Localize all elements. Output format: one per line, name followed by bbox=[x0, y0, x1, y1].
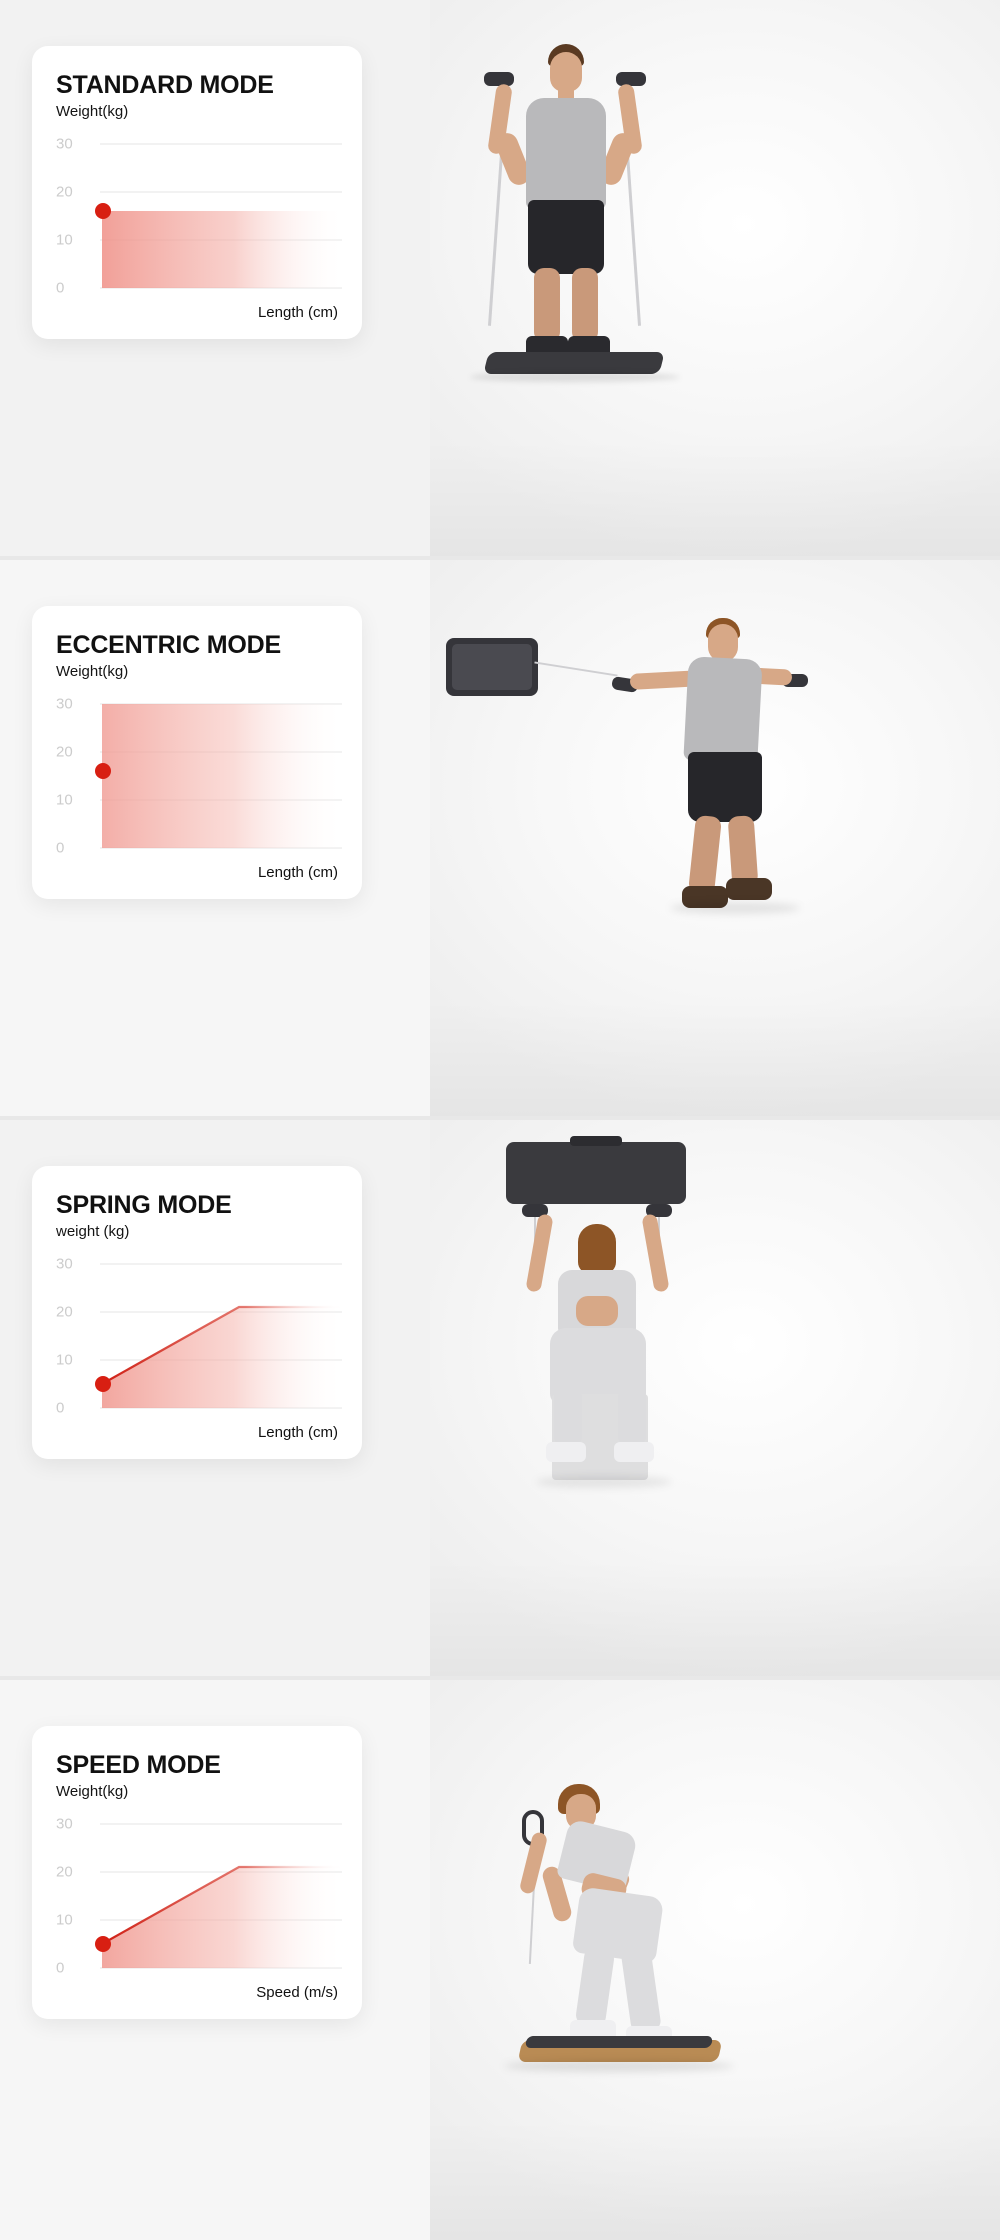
arm-left bbox=[525, 1213, 553, 1292]
section-spring-mode: SPRING MODE weight (kg) bbox=[0, 1120, 1000, 1680]
ytick-30: 30 bbox=[56, 696, 82, 713]
ytick-0: 0 bbox=[56, 1400, 82, 1417]
cable-left bbox=[534, 661, 617, 676]
start-marker bbox=[95, 763, 111, 779]
leg-right bbox=[618, 1388, 646, 1446]
chart-speed-mode: 30 20 10 0 bbox=[56, 1806, 342, 1982]
console-handle bbox=[570, 1136, 622, 1146]
hair-braids bbox=[578, 1224, 616, 1274]
y-axis-label: Weight(kg) bbox=[56, 1783, 342, 1800]
section-speed-mode: SPEED MODE Weight(kg) bbox=[0, 1680, 1000, 2240]
card-spring-mode: SPRING MODE weight (kg) bbox=[32, 1166, 362, 1459]
chart-svg bbox=[56, 686, 342, 862]
ytick-10: 10 bbox=[56, 792, 82, 809]
ytick-20: 20 bbox=[56, 1864, 82, 1881]
ytick-30: 30 bbox=[56, 1256, 82, 1273]
chart-spring-mode: 30 20 10 0 bbox=[56, 1246, 342, 1422]
area-fill bbox=[102, 1307, 342, 1408]
shoe-right bbox=[614, 1442, 654, 1462]
ytick-10: 10 bbox=[56, 1912, 82, 1929]
board-top-surface bbox=[525, 2036, 714, 2048]
handle-right bbox=[616, 72, 646, 86]
card-title: ECCENTRIC MODE bbox=[56, 632, 342, 658]
chart-svg bbox=[56, 1246, 342, 1422]
area-fill bbox=[102, 1867, 342, 1968]
ytick-0: 0 bbox=[56, 280, 82, 297]
card-title: SPRING MODE bbox=[56, 1192, 342, 1218]
start-marker bbox=[95, 203, 111, 219]
photo-spring-mode bbox=[430, 1120, 1000, 1680]
photo-speed-mode bbox=[430, 1680, 1000, 2240]
console-screen bbox=[452, 644, 532, 690]
card-eccentric-mode: ECCENTRIC MODE Weight(kg) bbox=[32, 606, 362, 899]
ytick-20: 20 bbox=[56, 744, 82, 761]
ytick-20: 20 bbox=[56, 1304, 82, 1321]
floor-shadow bbox=[430, 1000, 1000, 1120]
head bbox=[708, 624, 738, 662]
floor-shadow bbox=[430, 1560, 1000, 1680]
leg-left bbox=[554, 1388, 582, 1446]
ytick-10: 10 bbox=[56, 232, 82, 249]
body-shadow bbox=[670, 902, 800, 914]
ytick-30: 30 bbox=[56, 1816, 82, 1833]
x-axis-label: Length (cm) bbox=[56, 1424, 342, 1441]
handle-left bbox=[484, 72, 514, 86]
tank-top bbox=[683, 656, 762, 764]
area-band-fill bbox=[102, 704, 342, 848]
ytick-0: 0 bbox=[56, 1960, 82, 1977]
x-axis-label: Length (cm) bbox=[56, 304, 342, 321]
leg-back bbox=[688, 815, 722, 895]
ytick-30: 30 bbox=[56, 136, 82, 153]
board-shadow bbox=[504, 2060, 734, 2072]
shorts bbox=[528, 200, 604, 274]
start-marker bbox=[95, 1376, 111, 1392]
section-standard-mode: STANDARD MODE Weight(kg) bbox=[0, 0, 1000, 560]
leg-right bbox=[572, 268, 598, 342]
ytick-0: 0 bbox=[56, 840, 82, 857]
box-shadow-ellipse bbox=[536, 1476, 672, 1488]
area-fill bbox=[102, 211, 342, 288]
tank-top bbox=[526, 98, 606, 210]
start-marker bbox=[95, 1936, 111, 1952]
ytick-10: 10 bbox=[56, 1352, 82, 1369]
y-axis-label: Weight(kg) bbox=[56, 663, 342, 680]
x-axis-label: Length (cm) bbox=[56, 864, 342, 881]
board-shadow bbox=[470, 372, 680, 382]
section-eccentric-mode: ECCENTRIC MODE Weight(kg) bbox=[0, 560, 1000, 1120]
ytick-20: 20 bbox=[56, 184, 82, 201]
card-title: SPEED MODE bbox=[56, 1752, 342, 1778]
leg-front bbox=[728, 815, 759, 887]
leg-front bbox=[575, 1946, 616, 2027]
chart-svg bbox=[56, 1806, 342, 1982]
page-root: STANDARD MODE Weight(kg) bbox=[0, 0, 1000, 2240]
photo-eccentric-mode bbox=[430, 560, 1000, 1120]
shoe-front bbox=[726, 878, 772, 900]
card-standard-mode: STANDARD MODE Weight(kg) bbox=[32, 46, 362, 339]
card-title: STANDARD MODE bbox=[56, 72, 342, 98]
chart-standard-mode: 30 20 10 0 bbox=[56, 126, 342, 302]
shoe-left bbox=[546, 1442, 586, 1462]
back-cutout bbox=[576, 1296, 618, 1326]
chart-eccentric-mode: 30 20 10 0 bbox=[56, 686, 342, 862]
y-axis-label: weight (kg) bbox=[56, 1223, 342, 1240]
photo-standard-mode bbox=[430, 0, 1000, 560]
x-axis-label: Speed (m/s) bbox=[56, 1984, 342, 2001]
leg-back bbox=[620, 1944, 662, 2033]
arm-right bbox=[641, 1213, 669, 1292]
floor-shadow bbox=[430, 440, 1000, 560]
leg-left bbox=[534, 268, 560, 342]
y-axis-label: Weight(kg) bbox=[56, 103, 342, 120]
wall-console bbox=[506, 1142, 686, 1204]
floor-shadow bbox=[430, 2120, 1000, 2240]
chart-svg bbox=[56, 126, 342, 302]
shorts bbox=[688, 752, 762, 822]
training-board bbox=[483, 352, 664, 374]
card-speed-mode: SPEED MODE Weight(kg) bbox=[32, 1726, 362, 2019]
